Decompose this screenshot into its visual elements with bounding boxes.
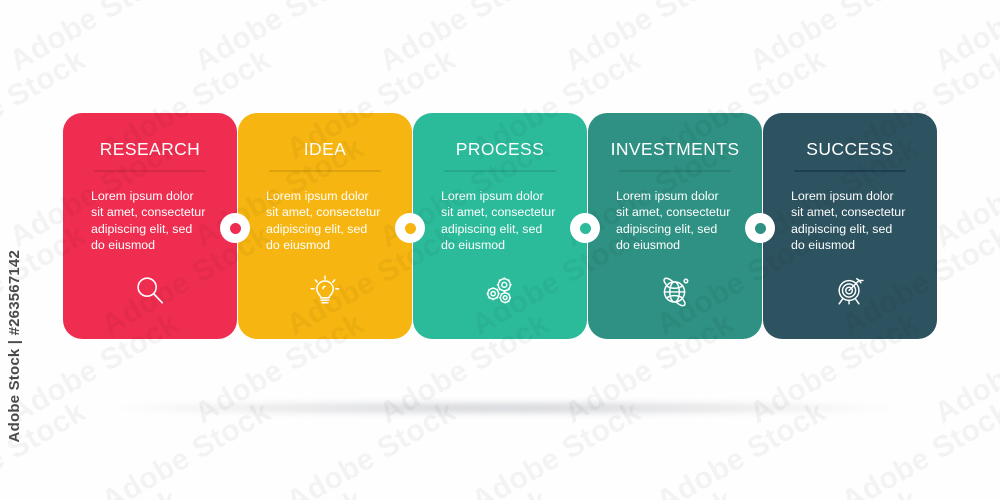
- watermark-text: Adobe Stock: [374, 0, 555, 79]
- globe-icon: [655, 271, 695, 311]
- watermark-text: Adobe Stock: [559, 0, 740, 79]
- step-title: IDEA: [304, 141, 346, 159]
- magnifier-icon: [130, 271, 170, 311]
- title-divider: [444, 170, 556, 172]
- gears-icon: [480, 271, 520, 311]
- step-title: PROCESS: [456, 141, 544, 159]
- watermark-text: Adobe Stock: [4, 0, 185, 79]
- stock-credit-label: Adobe Stock | #263567142: [6, 250, 23, 442]
- watermark-text: Adobe Stock: [744, 483, 925, 500]
- step-title: RESEARCH: [100, 141, 200, 159]
- watermark-text: Adobe Stock: [929, 307, 1000, 431]
- step-description: Lorem ipsum dolor sit amet, consectetur …: [441, 188, 559, 254]
- step-title: SUCCESS: [806, 141, 893, 159]
- step-title: INVESTMENTS: [611, 141, 740, 159]
- connector-2: [395, 213, 425, 243]
- step-card-idea[interactable]: IDEA Lorem ipsum dolor sit amet, consect…: [238, 113, 412, 339]
- watermark-text: Adobe Stock: [189, 0, 370, 79]
- connector-1: [220, 213, 250, 243]
- watermark-text: Adobe Stock: [189, 483, 370, 500]
- process-steps-row: RESEARCH Lorem ipsum dolor sit amet, con…: [63, 113, 937, 339]
- connector-dot: [580, 223, 591, 234]
- step-card-investments[interactable]: INVESTMENTS Lorem ipsum dolor sit amet, …: [588, 113, 762, 339]
- step-card-success[interactable]: SUCCESS Lorem ipsum dolor sit amet, cons…: [763, 113, 937, 339]
- title-divider: [269, 170, 381, 172]
- connector-4: [745, 213, 775, 243]
- target-icon: [830, 271, 870, 311]
- watermark-text: Adobe Stock: [4, 483, 185, 500]
- title-divider: [794, 170, 906, 172]
- watermark-text: Adobe Stock: [929, 483, 1000, 500]
- connector-dot: [230, 223, 241, 234]
- step-description: Lorem ipsum dolor sit amet, consectetur …: [91, 188, 209, 254]
- step-description: Lorem ipsum dolor sit amet, consectetur …: [616, 188, 734, 254]
- step-card-research[interactable]: RESEARCH Lorem ipsum dolor sit amet, con…: [63, 113, 237, 339]
- title-divider: [619, 170, 731, 172]
- lightbulb-icon: [305, 271, 345, 311]
- step-description: Lorem ipsum dolor sit amet, consectetur …: [266, 188, 384, 254]
- connector-3: [570, 213, 600, 243]
- connector-dot: [755, 223, 766, 234]
- step-card-process[interactable]: PROCESS Lorem ipsum dolor sit amet, cons…: [413, 113, 587, 339]
- title-divider: [94, 170, 206, 172]
- watermark-text: Adobe Stock: [929, 131, 1000, 255]
- watermark-text: Adobe Stock: [374, 483, 555, 500]
- connector-dot: [405, 223, 416, 234]
- drop-shadow: [110, 400, 900, 416]
- step-description: Lorem ipsum dolor sit amet, consectetur …: [791, 188, 909, 254]
- watermark-text: Adobe Stock: [929, 0, 1000, 79]
- watermark-text: Adobe Stock: [744, 0, 925, 79]
- infographic-canvas: Adobe StockAdobe StockAdobe StockAdobe S…: [0, 0, 1000, 500]
- watermark-text: Adobe Stock: [559, 483, 740, 500]
